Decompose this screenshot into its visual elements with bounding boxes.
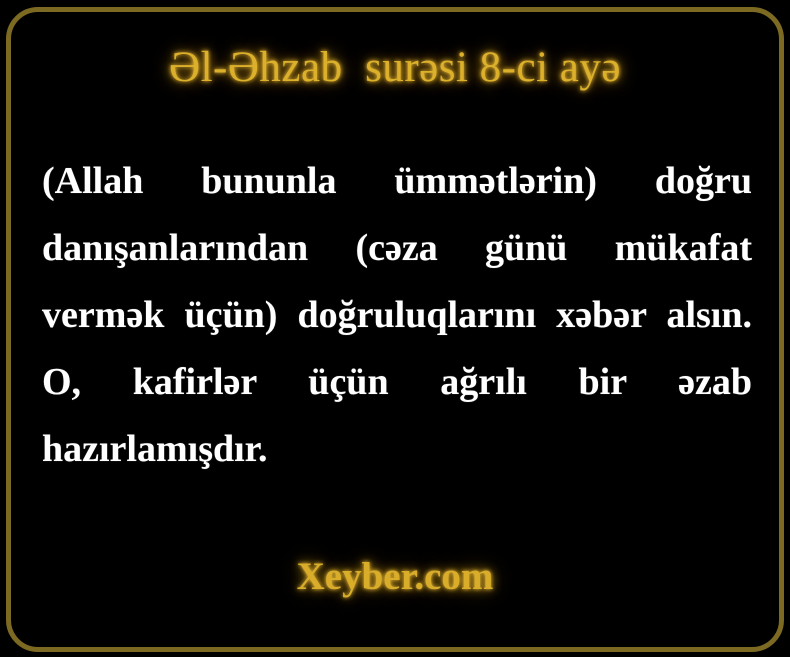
page-title: Əl-Əhzab surəsi 8-ci ayə [0,42,790,94]
verse-card: Əl-Əhzab surəsi 8-ci ayə (Allah bununla … [0,0,790,657]
verse-body-text: (Allah bununla ümmətlərin) doğru danışan… [42,148,752,483]
card-content: Əl-Əhzab surəsi 8-ci ayə (Allah bununla … [0,0,790,657]
site-watermark: Xeyber.com [0,554,790,600]
